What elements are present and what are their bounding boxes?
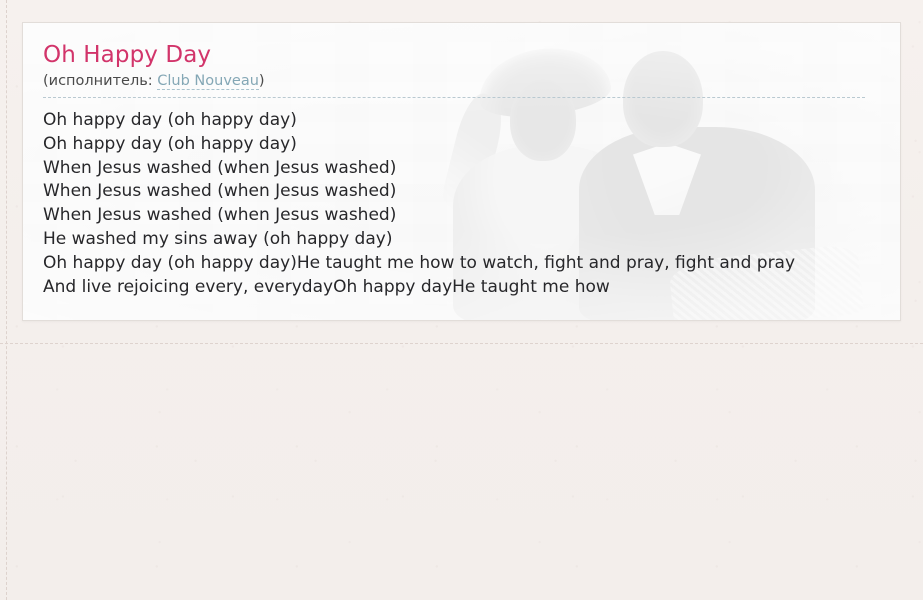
page-title: Oh Happy Day [43,41,880,69]
lyric-line: When Jesus washed (when Jesus washed) [43,204,880,228]
lyric-line: When Jesus washed (when Jesus washed) [43,180,880,204]
artist-label: (исполнитель: [43,73,157,89]
lyric-line: And live rejoicing every, everydayOh hap… [43,276,880,300]
card-content: Oh Happy Day (исполнитель: Club Nouveau)… [23,23,900,299]
header-divider [43,97,865,98]
content-bottom-dashed-rule [0,343,923,344]
lyric-line: He washed my sins away (oh happy day) [43,228,880,252]
artist-link[interactable]: Club Nouveau [157,73,259,90]
lyrics-card: Oh Happy Day (исполнитель: Club Nouveau)… [22,22,901,321]
lyrics-body: Oh happy day (oh happy day)Oh happy day … [43,109,880,299]
lyric-line: When Jesus washed (when Jesus washed) [43,157,880,181]
lyric-line: Oh happy day (oh happy day) [43,133,880,157]
artist-line: (исполнитель: Club Nouveau) [43,72,880,91]
artist-suffix: ) [259,73,265,89]
lyric-line: Oh happy day (oh happy day) [43,109,880,133]
left-dashed-rule [6,0,7,600]
lyric-line: Oh happy day (oh happy day)He taught me … [43,252,880,276]
